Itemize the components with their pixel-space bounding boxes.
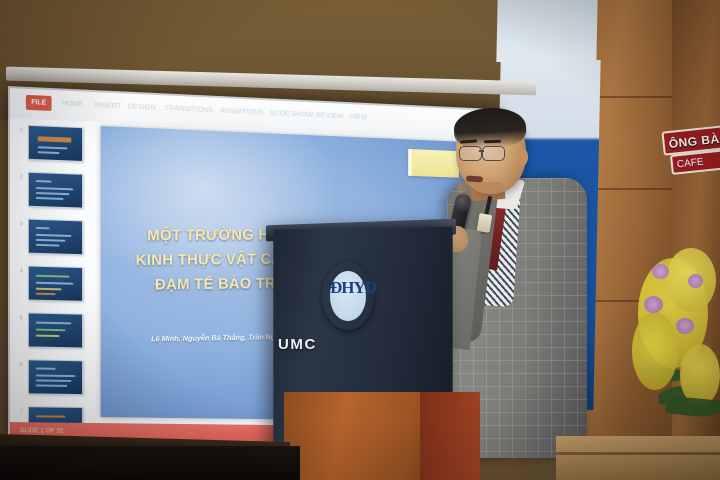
podium-base-side	[420, 392, 480, 480]
slide-thumbnail[interactable]: 5	[28, 312, 83, 348]
thumb-number: 6	[20, 362, 23, 368]
backdrop-upper	[496, 0, 597, 62]
wainscot-panel	[556, 436, 720, 480]
wall-sign: ÔNG BÀ CAFE	[661, 124, 720, 183]
tab-review[interactable]: REVIEW	[316, 110, 343, 120]
eyeglasses-lens-right	[482, 146, 505, 161]
thumb-number: 5	[20, 315, 23, 321]
flower-arrangement	[632, 248, 720, 420]
slide-thumbnail[interactable]: 3	[28, 219, 83, 256]
slide-thumbnail[interactable]: 2	[28, 172, 83, 209]
tab-animations[interactable]: ANIMATIONS	[220, 106, 264, 117]
tab-home[interactable]: HOME	[61, 98, 83, 108]
slide-thumbnail-rail[interactable]: 1 2 3	[28, 125, 89, 419]
slide-decor-rectangle	[408, 149, 459, 178]
thumb-number: 7	[20, 409, 23, 415]
thumb-number: 4	[20, 268, 23, 274]
slide-counter: SLIDE 1 OF 32	[20, 427, 64, 434]
thumb-number: 2	[20, 174, 23, 180]
logo-inner-field: ĐHYD	[330, 271, 366, 321]
eyeglasses-bridge	[479, 150, 484, 152]
institution-label: UMC	[278, 336, 340, 353]
thumb-number: 1	[20, 128, 23, 134]
tab-view[interactable]: VIEW	[349, 112, 367, 121]
logo-monogram: ĐHYD	[330, 271, 366, 321]
tab-slide-show[interactable]: SLIDE SHOW	[269, 108, 313, 119]
tab-design[interactable]: DESIGN	[128, 102, 156, 112]
name-badge	[477, 213, 493, 233]
tab-transitions[interactable]: TRANSITIONS	[165, 103, 213, 114]
photo-scene: ÔNG BÀ CAFE FILE HOME INSERT DESIGN TRAN…	[0, 0, 720, 480]
slide-thumbnail[interactable]: 6	[28, 359, 83, 395]
wainscot-seam	[556, 452, 720, 455]
file-tab[interactable]: FILE	[26, 95, 52, 111]
stage-floor	[0, 446, 300, 480]
institution-logo: ĐHYD	[322, 262, 374, 330]
thumb-number: 3	[20, 221, 23, 227]
slide-thumbnail[interactable]: 4	[28, 266, 83, 302]
speaker-ear	[516, 148, 528, 166]
eyeglasses-lens-left	[459, 146, 482, 161]
tab-insert[interactable]: INSERT	[95, 100, 122, 110]
slide-thumbnail[interactable]: 1	[28, 125, 83, 162]
